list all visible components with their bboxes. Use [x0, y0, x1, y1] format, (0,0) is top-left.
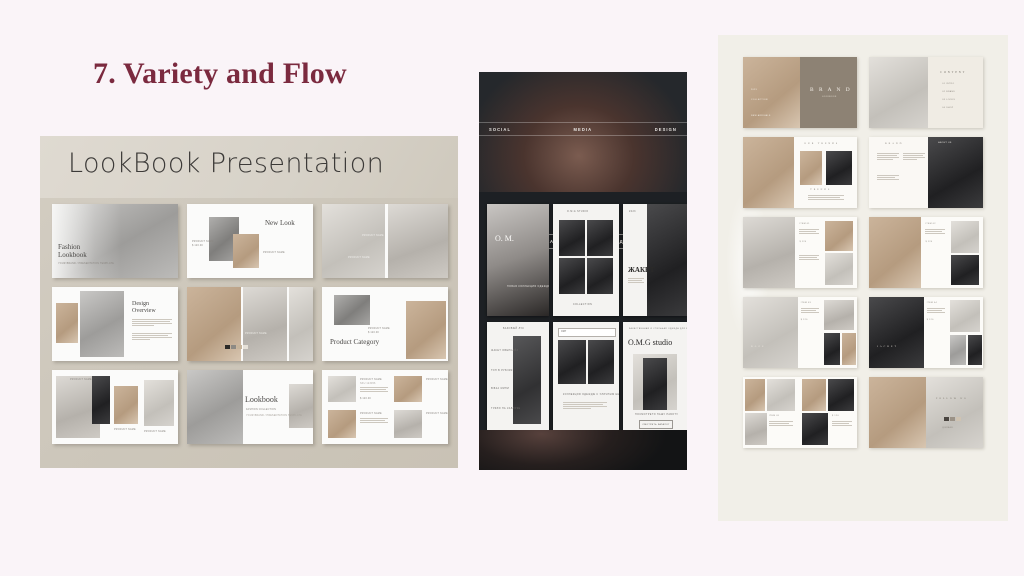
spread-body [903, 153, 925, 160]
story-card-om-hero[interactable]: O. M. НОВАЯ КОЛЛЕКЦИЯ ОДЕЖДЫ [487, 204, 549, 316]
product-label: PRODUCT NAME [368, 327, 390, 330]
spread-tiny: $ 120 [801, 319, 808, 321]
search-input[interactable]: ОМГ [558, 328, 616, 337]
spread-body [799, 255, 819, 260]
slide-headline: Product Category [330, 339, 379, 346]
product-label: PRODUCT NAME [426, 412, 448, 415]
cta-caption: ПОСМОТРЕТИ НАШУ РАБОТУ [635, 414, 678, 416]
spread-tiny: ITEM 04 [927, 302, 937, 304]
spread-photo [802, 413, 828, 445]
card-title: ЖАКЕТ [628, 266, 654, 274]
story-card-omg-studio[interactable]: КАЧЕСТВЕННАЯ И СТИЛЬНАЯ ОДЕЖДА ДЛЯ ВАШЕГ… [623, 322, 687, 434]
product-price: $ 120.00 [360, 397, 371, 400]
card-eyebrow: КАЧЕСТВЕННАЯ И СТИЛЬНАЯ ОДЕЖДА ДЛЯ ВАШЕГ… [629, 328, 687, 330]
lookbook-slide-design-overview[interactable]: Design Overview [52, 287, 178, 361]
spread-tiny: 02 BRAND [942, 91, 955, 93]
magazine-spread-mood-grid[interactable]: ITEM 05 $ 120 [743, 377, 857, 448]
product-label: PRODUCT NAME [263, 251, 285, 254]
card-title: O. M. [495, 234, 514, 243]
spread-photo [869, 217, 921, 288]
color-swatches [225, 345, 248, 349]
slide-photo [328, 410, 356, 438]
lookbook-header-title: LookBook Presentation [68, 148, 384, 179]
card-caption: НОВАЯ КОЛЛЕКЦИЯ ОДЕЖДЫ [507, 286, 549, 288]
spread-tiny: 2023 [751, 89, 757, 91]
spread-photo [828, 379, 854, 411]
slide-photo [56, 303, 78, 343]
card-eyebrow: 2023 [629, 211, 636, 213]
spread-photo: JACKET [869, 297, 924, 368]
spread-tiny: ITEM 03 [801, 302, 811, 304]
spread-label: FOLLOW US [936, 397, 968, 400]
spread-photo [826, 151, 852, 185]
card-title: Базовый лук [503, 328, 524, 330]
nav-item-media[interactable]: MEDIA [574, 127, 593, 132]
product-desc [360, 418, 388, 423]
slide-photo [394, 376, 422, 402]
slide-subline: YOUR BRAND / PRESENTATION TEMPLATE [58, 262, 114, 265]
spread-tiny: 04 SHOP [942, 107, 953, 109]
slide-headline-line-1: Design [132, 301, 149, 307]
slide-photo [233, 234, 259, 268]
nav-item-social[interactable]: SOCIAL [489, 127, 511, 132]
spread-body [832, 421, 852, 426]
spread-label: B R A N D [810, 87, 852, 93]
spread-photo: BAGS [743, 297, 798, 368]
slide-photo [388, 204, 448, 278]
spread-sub: ABOUT US [938, 142, 951, 144]
spread-photo [951, 221, 979, 253]
spread-body [877, 153, 899, 160]
slide-headline: Lookbook [245, 396, 278, 404]
product-label: PRODUCT NAME [426, 378, 448, 381]
spread-text-page: ITEM 03 $ 120 [798, 297, 857, 368]
spread-text-page: BRAND [869, 137, 928, 208]
card-point: ТУФЛИ НА КАБЛУКЕ [491, 408, 521, 410]
spread-text-page: ITEM 04 $ 120 [924, 297, 983, 368]
spread-body [877, 175, 899, 180]
slide-photo [114, 386, 138, 424]
spread-photo [800, 151, 822, 185]
magazine-spread-grid: B R A N D lookbook 2023 COLLECTION NEW A… [743, 57, 983, 448]
spread-tiny: $ 120 [925, 241, 932, 243]
footer-portrait-photo [479, 430, 687, 470]
lookbook-presentation-mockup: LookBook Presentation Fashion Lookbook Y… [40, 136, 458, 468]
spread-tiny: $ 120 [927, 319, 934, 321]
card-point: ТОП В РУБЧИК [491, 370, 513, 372]
spread-photo [767, 379, 795, 411]
spread-tiny: @BRAND [942, 427, 953, 429]
spread-body [927, 308, 945, 313]
story-card-collection[interactable]: ОМГ КОЛЛЕКЦИЯ ОДЕЖДЫ С УЛИЧНЫМ ШИКОМ [553, 322, 619, 434]
lookbook-slide-new-look[interactable]: New Look PRODUCT NAME $ 120.00 PRODUCT N… [187, 204, 313, 278]
card-photo [633, 354, 677, 410]
story-card-jacket[interactable]: 2023 ЖАКЕТ [623, 204, 687, 316]
spread-text-page: ITEM 02 $ 120 [921, 217, 983, 288]
slide-photo [144, 380, 174, 426]
slide-photo [406, 301, 446, 359]
story-card-omg-studio-grid[interactable]: O.M.G STUDIO COLLECTION [553, 204, 619, 316]
spread-tiny: ITEM 05 [769, 415, 779, 417]
spread-photo [824, 333, 840, 365]
slide-photo [328, 376, 356, 402]
product-label: PRODUCT NAME [360, 378, 382, 381]
spread-tiny: 03 LOOKS [942, 99, 955, 101]
slide-headline-line-2: Overview [132, 308, 156, 314]
product-label: PRODUCT NAME [144, 430, 166, 433]
slide-canvas: 7. Variety and Flow LookBook Presentatio… [0, 0, 1024, 576]
magazine-lookbook-board: B R A N D lookbook 2023 COLLECTION NEW A… [718, 35, 1008, 521]
magazine-spread-accessories[interactable]: BAGS ITEM 03 $ 120 [743, 297, 857, 368]
product-desc [360, 387, 388, 392]
lookbook-header: LookBook Presentation [40, 136, 458, 198]
spread-text-page: ITEM 01 $ 120 [795, 217, 857, 288]
card-photo [559, 258, 585, 294]
spread-text-page: ITEM 05 [743, 377, 800, 448]
slide-body-text [132, 333, 172, 340]
lookbook-slide-cover[interactable]: Lookbook FASHION COLLECTION YOUR BRAND /… [187, 370, 313, 444]
story-card-capsule[interactable]: Базовый лук ЖАКЕТ ОВЕРСАЙЗ ТОП В РУБЧИК … [487, 322, 549, 434]
slide-photo [289, 384, 313, 428]
product-label: PRODUCT NAME [362, 234, 384, 237]
story-card-row-1: O. M. НОВАЯ КОЛЛЕКЦИЯ ОДЕЖДЫ O.M.G STUDI… [487, 204, 687, 316]
spread-label: JACKET [877, 345, 898, 348]
card-title: O.M.G studio [628, 338, 672, 347]
spread-photo [743, 57, 800, 128]
spread-label: CONTENT [940, 71, 966, 74]
slide-headline-line-2: Lookbook [58, 252, 87, 259]
spread-photo [869, 57, 928, 128]
slide-headline: New Look [265, 220, 295, 227]
magazine-spread-our-trends[interactable]: OUR TRENDS TRENDS [743, 137, 857, 208]
magazine-spread-outerwear[interactable]: JACKET ITEM 04 $ 120 [869, 297, 983, 368]
product-label: PRODUCT NAME [70, 378, 92, 381]
spread-label: BAGS [751, 345, 765, 348]
magazine-spread-follow-us[interactable]: FOLLOW US @BRAND [869, 377, 983, 448]
spread-photo [825, 253, 853, 285]
card-point: ЖАКЕТ ОВЕРСАЙЗ [491, 350, 518, 352]
card-photo [487, 204, 549, 316]
slide-photo [243, 287, 287, 361]
spread-body [799, 229, 819, 234]
lookbook-slide-grid: Fashion Lookbook YOUR BRAND / PRESENTATI… [52, 204, 448, 444]
story-card-row-2: Базовый лук ЖАКЕТ ОВЕРСАЙЗ ТОП В РУБЧИК … [487, 322, 687, 434]
spread-photo [869, 377, 926, 448]
spread-photo [802, 379, 826, 411]
card-photo [558, 340, 586, 384]
spread-body [808, 195, 844, 200]
spread-photo [951, 255, 979, 285]
product-label: PRODUCT NAME [245, 332, 267, 335]
product-label: PRODUCT NAME [360, 412, 382, 415]
spread-tiny: 01 INTRO [942, 83, 954, 85]
spread-tiny: ITEM 02 [925, 223, 935, 225]
card-top-label: O.M.G STUDIO [567, 211, 588, 213]
spread-text-page: B R A N D lookbook [800, 57, 857, 128]
slide-photo [394, 410, 422, 438]
spread-photo [743, 137, 794, 208]
spread-photo: ABOUT US [928, 137, 983, 208]
spread-photo [968, 335, 982, 365]
card-body-lines [563, 402, 607, 409]
spread-photo [824, 300, 854, 330]
spread-body [801, 308, 819, 313]
slide-photo [92, 376, 110, 424]
slide-photo [322, 204, 385, 278]
spread-text-page: FOLLOW US @BRAND [926, 377, 983, 448]
spread-photo [745, 413, 767, 445]
spread-tiny: NEW ARRIVALS [751, 115, 771, 117]
spread-tiny: $ 120 [799, 241, 806, 243]
magazine-spread-brand-cover[interactable]: B R A N D lookbook 2023 COLLECTION NEW A… [743, 57, 857, 128]
lookbook-slide-duo-photo[interactable]: PRODUCT NAME PRODUCT NAME [322, 204, 448, 278]
slide-photo [289, 287, 313, 361]
spread-text-page: CONTENT 01 INTRO 02 BRAND 03 LOOKS 04 SH… [928, 57, 983, 128]
card-photo [587, 220, 613, 256]
lookbook-slide-product-trio[interactable]: PRODUCT NAME PRODUCT NAME PRODUCT NAME [52, 370, 178, 444]
catalog-cta-label: СМОТРЕТЬ КАТАЛОГ [642, 424, 669, 426]
spread-label: OUR TRENDS [804, 142, 839, 145]
slide-photo [334, 295, 370, 325]
card-photo [588, 340, 614, 384]
product-label: PRODUCT NAME [114, 428, 136, 431]
product-sku: SKU 123456 [360, 382, 376, 385]
spread-sub: TRENDS [810, 189, 831, 191]
spread-photo [743, 217, 795, 288]
spread-photo [842, 333, 856, 365]
social-media-stories-mockup: SOCIAL MEDIA DESIGN ЦЕПОЧКА СТОРИС ДЛЯ Б… [479, 72, 687, 470]
lookbook-slide-fashion-lookbook[interactable]: Fashion Lookbook YOUR BRAND / PRESENTATI… [52, 204, 178, 278]
slide-photo [187, 287, 241, 361]
lookbook-slide-product-quad[interactable]: PRODUCT NAME SKU 123456 $ 120.00 PRODUCT… [322, 370, 448, 444]
spread-label: BRAND [885, 142, 903, 145]
spread-tiny: ITEM 01 [799, 223, 809, 225]
card-photo [559, 220, 585, 256]
product-price: $ 120.00 [192, 244, 203, 247]
card-photo [647, 204, 687, 316]
search-input-value: ОМГ [561, 330, 566, 333]
spread-text-page: $ 120 [800, 377, 857, 448]
spread-photo [950, 335, 966, 365]
card-bottom-label: COLLECTION [573, 304, 592, 306]
product-price: $ 120.00 [368, 331, 379, 334]
card-point: ЮБКА МИНИ [491, 388, 509, 390]
magazine-spread-content-page[interactable]: CONTENT 01 INTRO 02 BRAND 03 LOOKS 04 SH… [869, 57, 983, 128]
magazine-spread-catalogue-b[interactable]: ITEM 02 $ 120 [869, 217, 983, 288]
spread-sub: lookbook [822, 96, 837, 98]
slide-photo [187, 370, 243, 444]
card-caption-lines [628, 278, 644, 283]
slide-body-text [132, 319, 172, 326]
slide-photo [80, 291, 124, 357]
spread-body [925, 229, 945, 234]
card-photo [587, 258, 613, 294]
product-label: PRODUCT NAME [348, 256, 370, 259]
slide-caption: YOUR BRAND / PRESENTATION TEMPLATE [246, 414, 302, 417]
spread-swatches [944, 417, 961, 421]
spread-photo [825, 221, 853, 251]
photo-overlay [52, 204, 178, 278]
lookbook-slide-product-category[interactable]: Product Category PRODUCT NAME $ 120.00 [322, 287, 448, 361]
magazine-spread-about-us[interactable]: BRAND ABOUT US [869, 137, 983, 208]
spread-photo [745, 379, 765, 411]
catalog-cta-button[interactable]: СМОТРЕТЬ КАТАЛОГ [639, 420, 673, 429]
nav-item-design[interactable]: DESIGN [655, 127, 677, 132]
spread-photo [950, 300, 980, 332]
card-caption: КОЛЛЕКЦИЯ ОДЕЖДЫ С УЛИЧНЫМ ШИКОМ [563, 394, 619, 396]
product-label: PRODUCT NAME [192, 240, 214, 243]
spread-tiny: COLLECTION [751, 99, 768, 101]
spread-tiny: $ 120 [832, 415, 839, 417]
spread-text-page: OUR TRENDS TRENDS [794, 137, 857, 208]
slide-subline: FASHION COLLECTION [246, 408, 276, 411]
lookbook-slide-palette[interactable]: PRODUCT NAME [187, 287, 313, 361]
spread-body [769, 421, 793, 426]
magazine-spread-catalogue-a[interactable]: ITEM 01 $ 120 [743, 217, 857, 288]
page-title: 7. Variety and Flow [93, 57, 347, 91]
top-nav[interactable]: SOCIAL MEDIA DESIGN [479, 122, 687, 136]
